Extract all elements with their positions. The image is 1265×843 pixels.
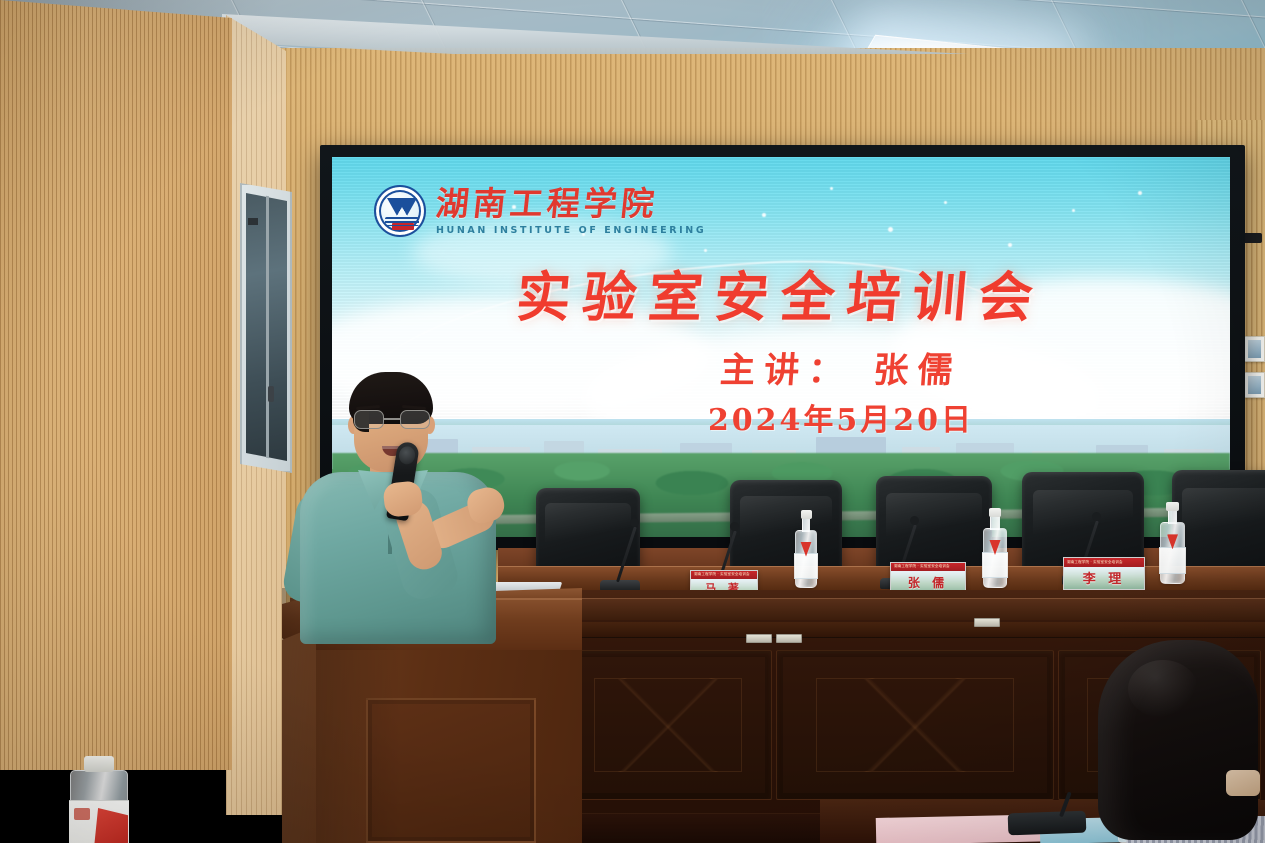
placard-name-3: 李 理 (1064, 567, 1144, 589)
foreground-microphone (1008, 811, 1087, 836)
placard-header-2: 湖南工程学院 · 实验室安全培训会 (891, 563, 965, 571)
foreground-water-bottle (70, 756, 128, 843)
window-latch (248, 218, 258, 225)
placard-header-text-2: 湖南工程学院 · 实验室安全培训会 (894, 565, 950, 569)
glasses-icon (352, 410, 432, 430)
left-wall (0, 0, 232, 770)
window-handle[interactable] (268, 386, 274, 402)
front-desk-plate-3 (974, 618, 1000, 627)
water-bottle-2 (983, 528, 1007, 588)
placard-header-1: 湖南工程学院 · 实验室安全培训会 (691, 571, 757, 579)
front-desk-plate-1 (746, 634, 772, 643)
podium-side (282, 626, 316, 843)
front-desk-panel-1 (564, 650, 772, 800)
wall-picture-frame-2 (1244, 372, 1265, 398)
podium-front-panel (366, 698, 536, 843)
emblem-year-badge (392, 223, 414, 230)
institution-emblem-icon (374, 185, 426, 237)
placard-header-3: 湖南工程学院 · 实验室安全培训会 (1064, 558, 1144, 567)
slide-title: 实验室安全培训会 (332, 253, 1230, 332)
front-desk-rail (560, 622, 1265, 638)
name-placard-3: 湖南工程学院 · 实验室安全培训会 李 理 (1063, 557, 1145, 590)
attendee-hair-clip (1226, 770, 1260, 796)
front-desk-panel-2 (776, 650, 1054, 800)
wall-picture-frame-1 (1244, 336, 1265, 362)
attendee-foreground (1098, 640, 1265, 843)
water-bottle-3 (1160, 522, 1185, 584)
water-bottle-1 (795, 530, 817, 588)
speaker-person (296, 360, 516, 640)
institution-name-cn: 湖南工程学院 (434, 187, 708, 220)
window-mullion (266, 196, 269, 459)
attendee-hair (1098, 640, 1258, 840)
front-desk-top (560, 598, 1265, 620)
institution-name-en: HUNAN INSTITUTE OF ENGINEERING (436, 225, 706, 236)
placard-header-text-3: 湖南工程学院 · 实验室安全培训会 (1067, 561, 1123, 565)
placard-header-text-1: 湖南工程学院 · 实验室安全培训会 (694, 573, 750, 577)
slide-logo: 湖南工程学院 HUNAN INSTITUTE OF ENGINEERING (374, 185, 706, 237)
front-desk-plate-2 (776, 634, 802, 643)
meeting-photo-scene: 湖南工程学院 HUNAN INSTITUTE OF ENGINEERING 实验… (0, 0, 1265, 843)
